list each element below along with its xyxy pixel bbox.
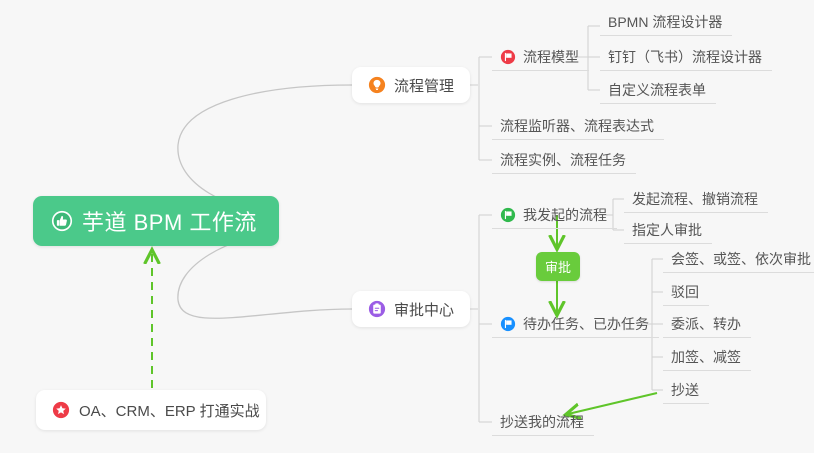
flag-icon — [500, 207, 516, 223]
node-label: 流程监听器、流程表达式 — [500, 116, 654, 136]
node-label: BPMN 流程设计器 — [608, 12, 722, 32]
node-multi-sign[interactable]: 会签、或签、依次审批 — [663, 245, 814, 273]
bottom-tag-node[interactable]: OA、CRM、ERP 打通实战 — [36, 390, 266, 430]
node-add-remove-sign[interactable]: 加签、减签 — [663, 343, 751, 371]
flag-icon — [500, 316, 516, 332]
lightbulb-icon — [368, 76, 386, 94]
node-label: 流程实例、流程任务 — [500, 150, 626, 170]
node-label: 指定人审批 — [632, 220, 702, 240]
approval-badge: 审批 — [536, 252, 580, 281]
node-process-listener[interactable]: 流程监听器、流程表达式 — [492, 112, 664, 140]
node-process-instance[interactable]: 流程实例、流程任务 — [492, 146, 636, 174]
node-process-model[interactable]: 流程模型 — [492, 43, 589, 71]
clipboard-icon — [368, 300, 386, 318]
node-label: 流程模型 — [523, 47, 579, 67]
node-label: 加签、减签 — [671, 347, 741, 367]
node-label: 待办任务、已办任务 — [523, 314, 649, 334]
node-label: 会签、或签、依次审批 — [671, 249, 811, 269]
node-label: 我发起的流程 — [523, 205, 607, 225]
root-node[interactable]: 芋道 BPM 工作流 — [33, 196, 279, 246]
node-label: 自定义流程表单 — [608, 80, 706, 100]
bottom-tag-label: OA、CRM、ERP 打通实战 — [79, 400, 260, 421]
node-cc-to-me[interactable]: 抄送我的流程 — [492, 408, 594, 436]
mindmap-canvas: 芋道 BPM 工作流 流程管理 流程模型 流程监听器、流程表达式 流程实例、流程… — [0, 0, 814, 453]
node-label: 抄送我的流程 — [500, 412, 584, 432]
node-label: 委派、转办 — [671, 314, 741, 334]
node-label: 抄送 — [671, 380, 699, 400]
approval-badge-label: 审批 — [545, 260, 571, 275]
node-label: 钉钉（飞书）流程设计器 — [608, 47, 762, 67]
node-my-started-process[interactable]: 我发起的流程 — [492, 201, 617, 229]
star-icon — [52, 401, 70, 419]
flag-icon — [500, 49, 516, 65]
node-assignee-approval[interactable]: 指定人审批 — [624, 216, 712, 244]
node-start-cancel-process[interactable]: 发起流程、撤销流程 — [624, 185, 768, 213]
node-label: 流程管理 — [394, 75, 454, 96]
node-label: 审批中心 — [394, 299, 454, 320]
thumbs-up-icon — [51, 210, 73, 232]
node-label: 驳回 — [671, 282, 699, 302]
node-cc[interactable]: 抄送 — [663, 376, 709, 404]
root-label: 芋道 BPM 工作流 — [82, 205, 257, 237]
node-custom-form[interactable]: 自定义流程表单 — [600, 76, 716, 104]
node-todo-done-tasks[interactable]: 待办任务、已办任务 — [492, 310, 659, 338]
node-process-management[interactable]: 流程管理 — [352, 67, 470, 103]
node-label: 发起流程、撤销流程 — [632, 189, 758, 209]
node-bpmn-designer[interactable]: BPMN 流程设计器 — [600, 8, 732, 36]
node-dingtalk-designer[interactable]: 钉钉（飞书）流程设计器 — [600, 43, 772, 71]
node-delegate-transfer[interactable]: 委派、转办 — [663, 310, 751, 338]
node-reject[interactable]: 驳回 — [663, 278, 709, 306]
node-approval-center[interactable]: 审批中心 — [352, 291, 470, 327]
